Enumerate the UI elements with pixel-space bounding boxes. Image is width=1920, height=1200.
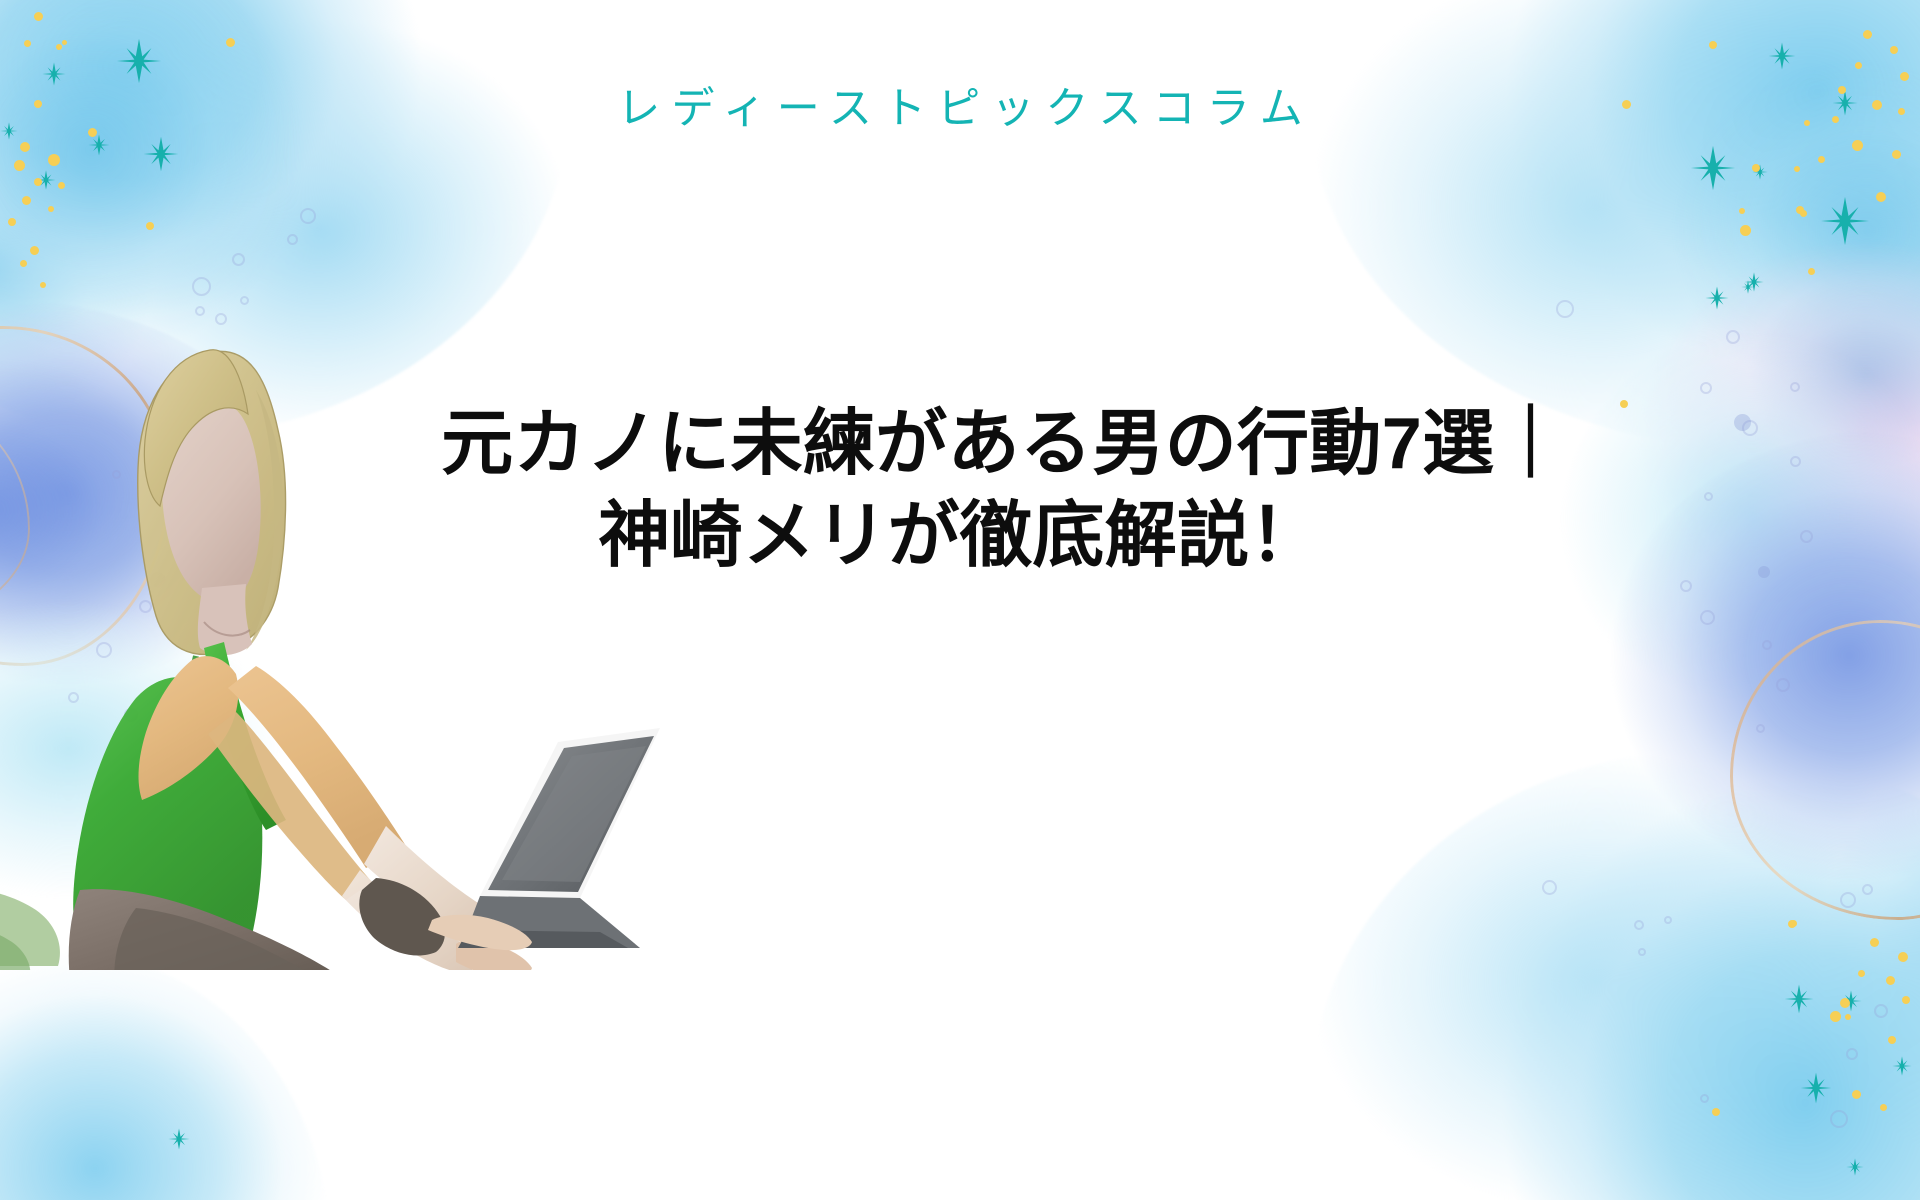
bubble-ring — [192, 277, 211, 296]
sparkle-star-icon — [168, 1128, 190, 1150]
bubble-ring — [1830, 1110, 1848, 1128]
bubble-ring — [1542, 880, 1557, 895]
speckle-dot — [1845, 1014, 1851, 1020]
sparkle-star-icon — [1741, 280, 1755, 294]
sparkle-star-icon — [36, 170, 56, 190]
speckle-dot — [1890, 46, 1898, 54]
bubble-ring — [1700, 610, 1715, 625]
speckle-dot — [14, 160, 25, 171]
speckle-dot — [1840, 998, 1850, 1008]
bubble-ring — [287, 234, 298, 245]
poster-canvas: レディーストピックスコラム 元カノに未練がある男の行動7選｜ 神崎メリが徹底解説… — [0, 0, 1920, 1200]
bubble-ring — [240, 296, 249, 305]
speckle-dot — [1740, 225, 1751, 236]
sparkle-star-icon — [143, 136, 179, 172]
speckle-dot — [1830, 1011, 1841, 1022]
title-line-2: 神崎メリが徹底解説！ — [0, 490, 1920, 582]
speckle-dot — [146, 222, 154, 230]
speckle-dot — [1794, 166, 1800, 172]
bubble-ring — [1790, 382, 1800, 392]
eyebrow-heading: レディーストピックスコラム — [0, 74, 1920, 136]
speckle-dot — [1709, 41, 1717, 49]
watercolor-wash-bottom-left — [0, 950, 330, 1200]
speckle-dot — [58, 182, 65, 189]
sparkle-star-icon — [1820, 196, 1870, 246]
sparkle-star-icon — [1768, 42, 1796, 70]
bubble-ring — [1846, 1048, 1858, 1060]
speckle-dot — [34, 178, 42, 186]
speckle-dot — [1788, 920, 1796, 928]
bubble-ring — [1776, 678, 1790, 692]
watercolor-wash-bottom-right — [1310, 750, 1920, 1200]
speckle-dot — [1712, 1108, 1720, 1116]
speckle-dot — [56, 44, 62, 50]
speckle-dot — [1876, 192, 1886, 202]
speckle-dot — [1870, 938, 1879, 947]
speckle-dot — [34, 12, 43, 21]
sparkle-star-icon — [1690, 145, 1736, 191]
speckle-dot — [1892, 150, 1901, 159]
bubble-ring — [195, 306, 205, 316]
speckle-dot — [22, 196, 31, 205]
sparkle-star-icon — [1846, 1158, 1864, 1176]
bubble-ring — [1634, 920, 1644, 930]
sparkle-star-icon — [1784, 984, 1814, 1014]
speckle-dot — [24, 40, 31, 47]
speckle-dot — [1800, 210, 1807, 217]
sparkle-star-icon — [88, 134, 110, 156]
speckle-dot — [48, 206, 54, 212]
speckle-dot — [1886, 976, 1895, 985]
speckle-dot — [1888, 1036, 1896, 1044]
sparkle-star-icon — [1840, 990, 1862, 1012]
bubble-ring — [1862, 884, 1873, 895]
speckle-dot — [1858, 970, 1865, 977]
speckle-dot — [1852, 140, 1863, 151]
title-line-1: 元カノに未練がある男の行動7選｜ — [0, 398, 1920, 490]
bubble-ring — [1638, 948, 1646, 956]
speckle-dot — [1808, 268, 1815, 275]
speckle-dot — [40, 282, 46, 288]
watercolor-wash-top-right — [1310, 0, 1920, 450]
bubble-ring — [1762, 640, 1772, 650]
speckle-dot — [48, 154, 60, 166]
speckle-dot — [1898, 952, 1908, 962]
watercolor-wash-top-left-inner — [0, 0, 350, 360]
speckle-dot — [1902, 996, 1910, 1004]
bubble-ring — [1874, 1004, 1888, 1018]
bubble-ring — [1700, 382, 1712, 394]
speckle-dot — [1790, 920, 1797, 927]
bubble-ring — [215, 313, 227, 325]
speckle-dot — [20, 142, 30, 152]
bubble-ring — [1664, 916, 1672, 924]
bubble-ring — [1840, 892, 1856, 908]
speckle-dot — [1852, 1090, 1861, 1099]
bubble-ring — [1726, 330, 1740, 344]
bubble-ring — [300, 208, 316, 224]
speckle-dot — [1880, 1104, 1887, 1111]
speckle-dot — [20, 260, 27, 267]
bubble-ring — [232, 253, 245, 266]
speckle-dot — [1752, 164, 1760, 172]
speckle-dot — [226, 38, 235, 47]
gold-glitter-ring-right — [1730, 620, 1920, 920]
sparkle-star-icon — [1752, 164, 1768, 180]
speckle-dot — [8, 218, 16, 226]
bubble-ring — [1700, 1094, 1709, 1103]
speckle-dot — [1863, 30, 1872, 39]
sparkle-star-icon — [1892, 1056, 1912, 1076]
sparkle-star-icon — [1800, 1072, 1832, 1104]
speckle-dot — [1818, 156, 1825, 163]
page-title: 元カノに未練がある男の行動7選｜ 神崎メリが徹底解説！ — [0, 398, 1920, 582]
speckle-dot — [1796, 206, 1804, 214]
speckle-dot — [30, 246, 39, 255]
sparkle-star-icon — [1705, 286, 1729, 310]
speckle-dot — [1739, 208, 1745, 214]
speckle-dot — [1855, 62, 1862, 69]
bubble-ring — [1556, 300, 1574, 318]
bubble-ring — [1756, 724, 1765, 733]
speckle-dot — [62, 40, 67, 45]
sparkle-star-icon — [1744, 272, 1764, 292]
